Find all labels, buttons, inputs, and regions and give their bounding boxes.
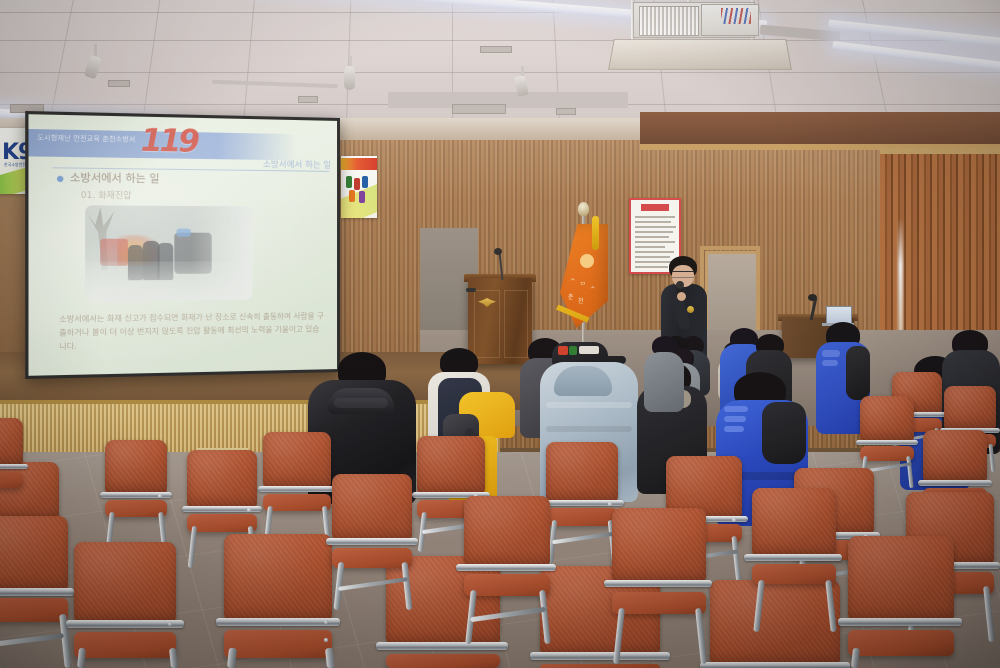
folding-auditorium-chair[interactable] <box>838 536 962 668</box>
slide-surface: 도시형재난 안전교육 춘천소방서 119 소방서에서 하는 일 소방서에서 하는… <box>28 114 337 376</box>
k9-poster-sub: 한국소방안전 <box>4 162 26 168</box>
right-soffit <box>640 112 1000 146</box>
folding-auditorium-chair[interactable] <box>0 516 74 668</box>
blinds-rail <box>880 148 1000 154</box>
folding-auditorium-chair[interactable] <box>744 488 842 632</box>
flag-finial <box>578 202 589 216</box>
projector-vent-grille <box>639 6 699 36</box>
folding-auditorium-chair[interactable] <box>216 534 340 668</box>
presenter-hand <box>677 292 686 301</box>
table-mic-icon <box>808 294 817 301</box>
ceiling-projector <box>625 0 765 58</box>
microphone-head-icon <box>676 281 684 289</box>
folding-auditorium-chair[interactable] <box>66 542 184 668</box>
uniform-badge <box>687 306 694 313</box>
folding-auditorium-chair[interactable] <box>100 440 172 546</box>
notice-title-bar <box>641 204 669 211</box>
auditorium-photo: K9 한국소방안전 ᄉ ᄇ ᄉ 춘 천 <box>0 0 1000 668</box>
glasses-icon <box>672 271 694 278</box>
gooseneck-mic-icon <box>494 248 502 255</box>
folding-auditorium-chair[interactable] <box>326 474 418 610</box>
folding-auditorium-chair[interactable] <box>258 432 336 544</box>
safety-cartoon-poster <box>341 156 377 218</box>
projection-screen: 도시형재난 안전교육 춘천소방서 119 소방서에서 하는 일 소방서에서 하는… <box>25 111 340 379</box>
folding-auditorium-chair[interactable] <box>604 508 712 664</box>
ceiling-light-strip <box>832 41 1000 71</box>
audience-member <box>644 336 684 410</box>
folding-auditorium-chair[interactable] <box>456 496 556 644</box>
flag-tassel <box>592 216 599 250</box>
folding-auditorium-chair[interactable] <box>0 418 28 514</box>
projector-lift-plate <box>608 39 792 70</box>
lectern-side-arm <box>466 288 476 292</box>
